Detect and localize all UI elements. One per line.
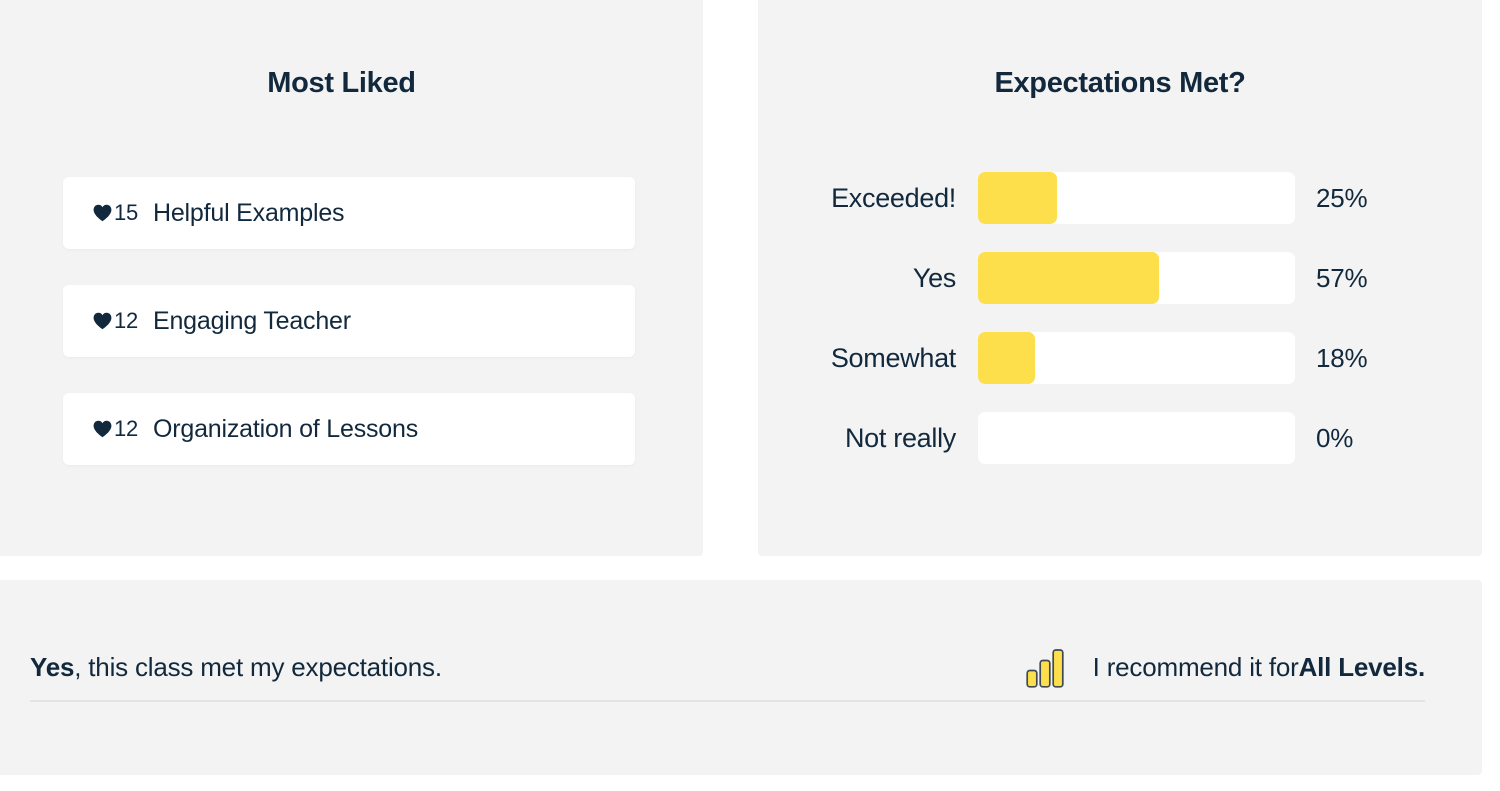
bar-row: Somewhat 18% — [758, 332, 1482, 384]
bar-track — [978, 252, 1295, 304]
bar-label: Somewhat — [758, 343, 978, 374]
like-count-group: 12 — [63, 310, 153, 332]
bar-track — [978, 412, 1295, 464]
expectations-summary-rest: , this class met my expectations. — [74, 652, 442, 682]
like-count-group: 12 — [63, 418, 153, 440]
expectations-title: Expectations Met? — [758, 67, 1482, 100]
recommendation-summary: I recommend it for All Levels. — [1025, 647, 1425, 689]
expectations-panel: Expectations Met? Exceeded! 25% Yes 57% … — [758, 0, 1482, 556]
bar-fill — [978, 332, 1035, 384]
summary-row: Yes, this class met my expectations. I r… — [30, 635, 1425, 700]
list-item[interactable]: 12 Organization of Lessons — [63, 393, 635, 465]
expectations-bar-chart: Exceeded! 25% Yes 57% Somewhat 18% Not r… — [758, 172, 1482, 464]
bar-label: Yes — [758, 263, 978, 294]
bar-row: Exceeded! 25% — [758, 172, 1482, 224]
like-count: 15 — [114, 202, 138, 224]
summary-divider — [30, 700, 1425, 702]
bar-chart-icon — [1025, 647, 1065, 689]
most-liked-panel: Most Liked 15 Helpful Examples — [0, 0, 703, 556]
recommendation-text: I recommend it for — [1093, 652, 1299, 683]
heart-icon — [93, 312, 112, 330]
list-item-label: Engaging Teacher — [153, 307, 351, 336]
bar-value: 57% — [1295, 263, 1367, 294]
summary-card: Yes, this class met my expectations. I r… — [0, 580, 1482, 775]
list-item-label: Organization of Lessons — [153, 415, 418, 444]
bar-value: 25% — [1295, 183, 1367, 214]
bar-label: Exceeded! — [758, 183, 978, 214]
summary-footnote — [0, 766, 1425, 774]
recommendation-level: All Levels. — [1299, 652, 1425, 683]
bar-row: Yes 57% — [758, 252, 1482, 304]
bar-track — [978, 332, 1295, 384]
heart-icon — [93, 420, 112, 438]
bar-value: 0% — [1295, 423, 1353, 454]
expectations-summary-emphasis: Yes — [30, 652, 74, 682]
bar-label: Not really — [758, 423, 978, 454]
list-item-label: Helpful Examples — [153, 199, 344, 228]
bar-fill — [978, 252, 1159, 304]
bar-value: 18% — [1295, 343, 1367, 374]
bar-row: Not really 0% — [758, 412, 1482, 464]
list-item[interactable]: 15 Helpful Examples — [63, 177, 635, 249]
list-item[interactable]: 12 Engaging Teacher — [63, 285, 635, 357]
most-liked-list: 15 Helpful Examples 12 Engaging Teacher — [63, 177, 635, 465]
bar-track — [978, 172, 1295, 224]
bar-fill — [978, 172, 1057, 224]
expectations-summary-text: Yes, this class met my expectations. — [30, 652, 442, 683]
most-liked-title: Most Liked — [0, 67, 703, 100]
like-count: 12 — [114, 310, 138, 332]
like-count-group: 15 — [63, 202, 153, 224]
heart-icon — [93, 204, 112, 222]
like-count: 12 — [114, 418, 138, 440]
